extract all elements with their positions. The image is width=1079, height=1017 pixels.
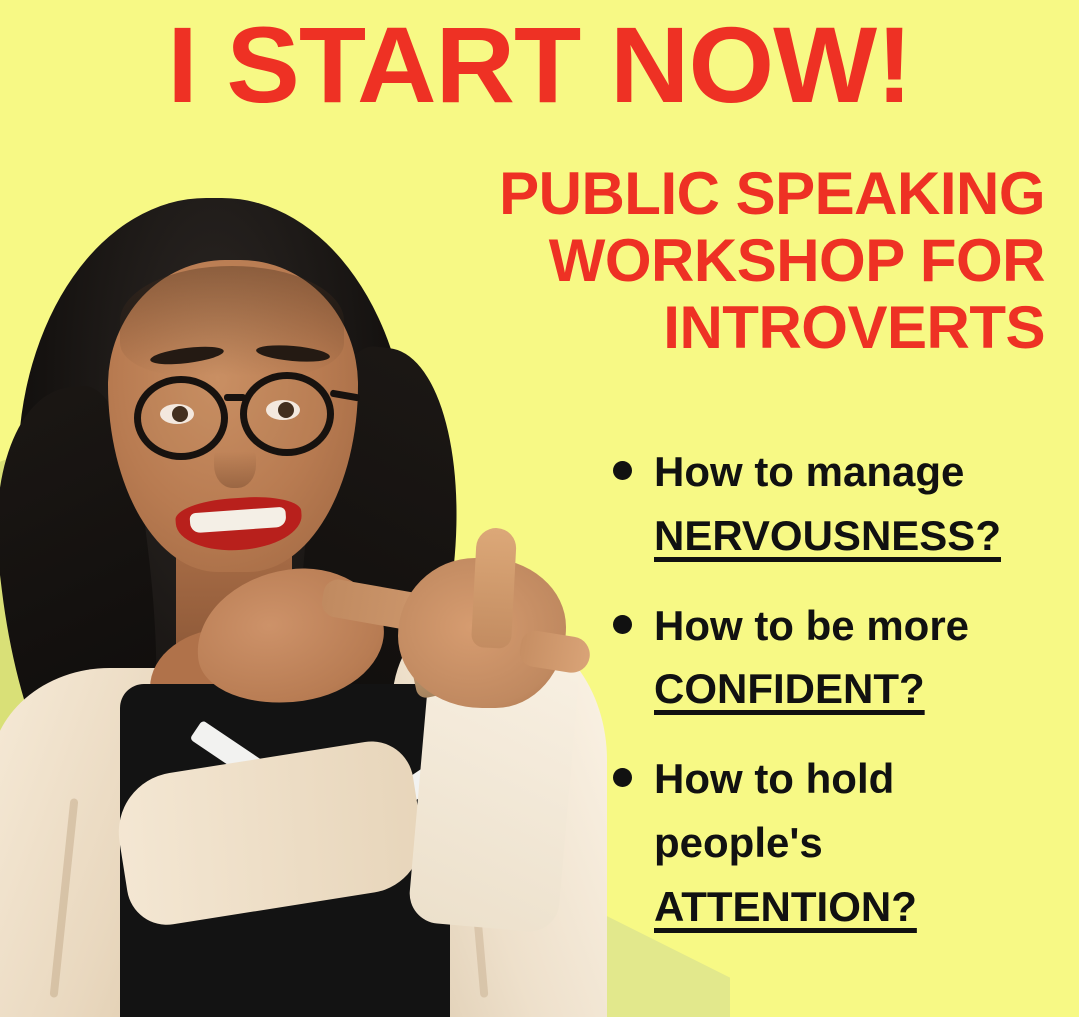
- bullet-dot-icon: [613, 461, 632, 480]
- bullet-keyword: CONFIDENT?: [654, 665, 925, 712]
- nose: [214, 436, 256, 488]
- bullet-lead-text: How to hold: [654, 747, 1074, 811]
- bullet-lead-text: How to be more: [654, 594, 1074, 658]
- bullet-lead-text: How to manage: [654, 440, 1074, 504]
- subheadline-line-1: PUBLIC SPEAKING: [385, 160, 1045, 227]
- bullet-dot-icon: [613, 768, 632, 787]
- promo-poster: I START NOW! PUBLIC SPEAKING WORKSHOP FO…: [0, 0, 1079, 1017]
- list-item: How to be more CONFIDENT?: [604, 594, 1074, 722]
- eyeglass-lens-right: [240, 372, 334, 456]
- bullet-keyword: NERVOUSNESS?: [654, 512, 1001, 559]
- eyeglass-lens-left: [134, 376, 228, 460]
- poster-subheadline: PUBLIC SPEAKING WORKSHOP FOR INTROVERTS: [385, 160, 1045, 362]
- index-finger-up: [471, 527, 517, 649]
- subheadline-line-3: INTROVERTS: [385, 294, 1045, 361]
- list-item: How to manage NERVOUSNESS?: [604, 440, 1074, 568]
- benefit-list: How to manage NERVOUSNESS? How to be mor…: [604, 440, 1074, 965]
- list-item: How to hold people's ATTENTION?: [604, 747, 1074, 938]
- poster-headline: I START NOW!: [0, 6, 1079, 125]
- subheadline-line-2: WORKSHOP FOR: [385, 227, 1045, 294]
- bullet-lead-text-2: people's: [654, 811, 1074, 875]
- eyeglass-bridge: [224, 394, 246, 401]
- bullet-keyword: ATTENTION?: [654, 883, 917, 930]
- bullet-dot-icon: [613, 615, 632, 634]
